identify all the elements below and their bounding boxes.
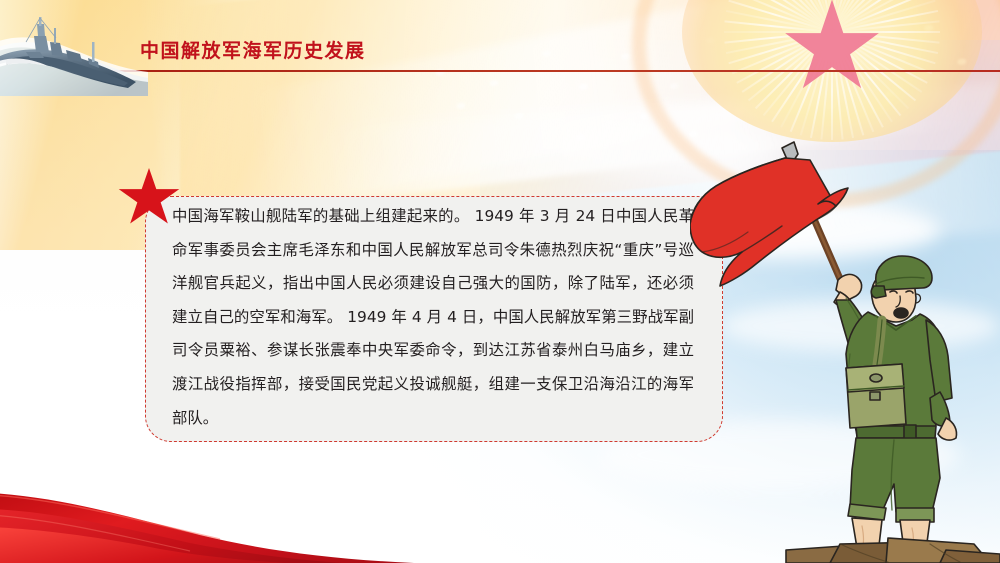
red-flag xyxy=(690,158,848,286)
slide-root: 中国解放军海军历史发展 xyxy=(0,0,1000,563)
header-rule-fade xyxy=(108,70,1000,72)
body-paragraph: 中国海军鞍山舰陆军的基础上组建起来的。 1949 年 3 月 24 日中国人民革… xyxy=(172,200,694,435)
rock-base xyxy=(786,538,1000,563)
warship-icon xyxy=(0,12,148,96)
soldier-head xyxy=(871,256,932,322)
red-silk-ribbon xyxy=(0,439,510,563)
soldier-satchel xyxy=(846,364,906,428)
soldier-with-flag-illustration xyxy=(690,140,1000,563)
page-title: 中国解放军海军历史发展 xyxy=(140,36,366,63)
